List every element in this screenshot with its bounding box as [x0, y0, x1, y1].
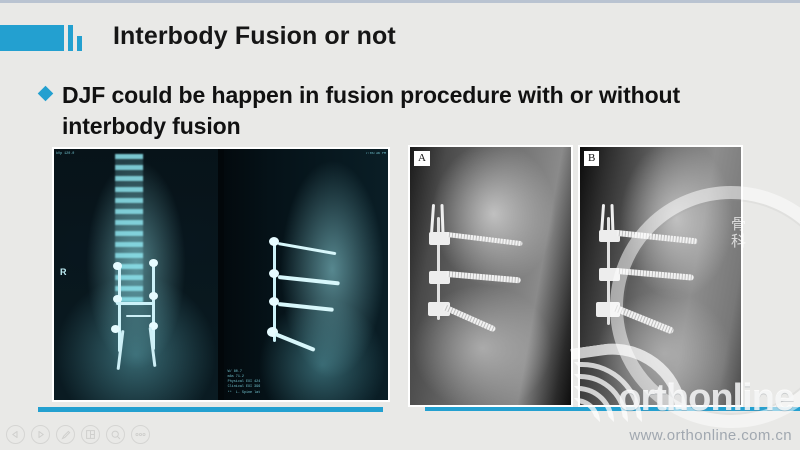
- dicom-text-block: W/ 80.7 mAs 71.2 Physical EXI 424 Clinic…: [228, 370, 261, 396]
- xray-film-left: R kVp 120.0: [54, 149, 388, 400]
- more-options-button[interactable]: [131, 425, 150, 444]
- side-marker-r: R: [60, 267, 67, 277]
- diamond-bullet-icon: [38, 86, 54, 102]
- accent-rule-right: [425, 407, 800, 411]
- slide-canvas: Interbody Fusion or not DJF could be hap…: [0, 0, 800, 450]
- triangle-right-icon: [37, 431, 44, 438]
- lumbar-xray-ap-and-lateral: R kVp 120.0: [52, 147, 390, 402]
- triangle-left-icon: [12, 431, 19, 438]
- ellipsis-icon: [135, 432, 146, 437]
- top-divider: [0, 0, 800, 3]
- next-slide-button[interactable]: [31, 425, 50, 444]
- dicom-text-top-left: kVp 120.0: [56, 152, 74, 157]
- slide-grid-button[interactable]: [81, 425, 100, 444]
- xray-film-a: A: [410, 147, 571, 405]
- pen-tool-button[interactable]: [56, 425, 75, 444]
- lumbar-xray-lateral-a: A: [408, 145, 573, 407]
- title-bar-logo: [0, 21, 82, 51]
- xray-film-b: B: [580, 147, 741, 405]
- logo-bar-short-icon: [77, 36, 82, 51]
- slide-header: Interbody Fusion or not: [0, 18, 800, 54]
- logo-bar-tall-icon: [68, 25, 73, 51]
- zoom-button[interactable]: [106, 425, 125, 444]
- panel-label-b: B: [584, 151, 599, 166]
- magnifier-icon: [111, 430, 121, 440]
- page-title: Interbody Fusion or not: [113, 18, 396, 54]
- bullet-text: DJF could be happen in fusion procedure …: [62, 80, 740, 141]
- xray-lateral-view: 7:05:36 PM: [224, 149, 388, 400]
- presentation-toolbar: [6, 425, 150, 444]
- lumbar-xray-lateral-b: B: [578, 145, 743, 407]
- previous-slide-button[interactable]: [6, 425, 25, 444]
- xray-ap-view: R kVp 120.0: [54, 149, 218, 400]
- logo-block-icon: [0, 25, 64, 51]
- grid-icon: [86, 430, 95, 439]
- panel-label-a: A: [414, 151, 430, 166]
- watermark-url: www.orthonline.com.cn: [629, 427, 792, 444]
- accent-rule-left: [38, 407, 383, 412]
- bullet-row: DJF could be happen in fusion procedure …: [40, 80, 740, 141]
- dicom-text-top-right: 7:05:36 PM: [366, 152, 386, 157]
- pen-icon: [61, 430, 71, 440]
